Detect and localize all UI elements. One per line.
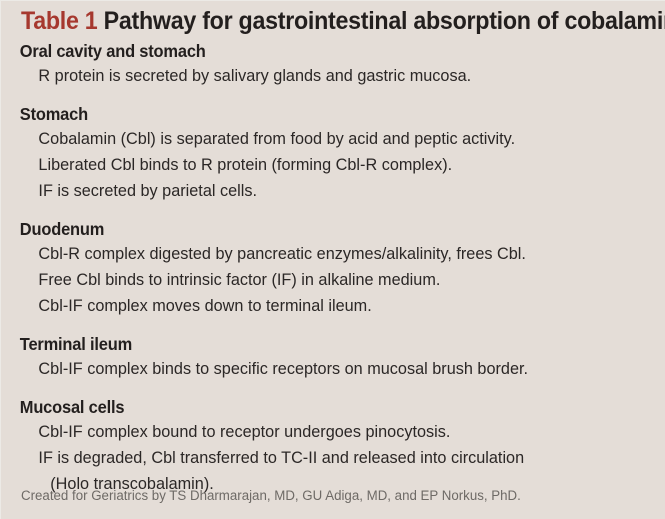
section-heading: Mucosal cells [1, 395, 625, 419]
table-body: Oral cavity and stomachR protein is secr… [1, 39, 665, 497]
section-line: Cbl-IF complex bound to receptor undergo… [1, 419, 655, 445]
section-heading: Terminal ileum [1, 332, 625, 356]
table-title-text: Pathway for gastrointestinal absorption … [104, 7, 665, 35]
section-line: Cbl-R complex digested by pancreatic enz… [1, 241, 655, 267]
section-line: Free Cbl binds to intrinsic factor (IF) … [1, 267, 655, 293]
table-section: Oral cavity and stomachR protein is secr… [1, 39, 665, 89]
table-card: Table 1 Pathway for gastrointestinal abs… [0, 0, 665, 519]
table-label: Table 1 [21, 7, 97, 35]
section-line: Liberated Cbl binds to R protein (formin… [1, 152, 655, 178]
section-line: IF is secreted by parietal cells. [1, 178, 655, 204]
section-line: IF is degraded, Cbl transferred to TC-II… [1, 445, 655, 471]
table-title: Table 1 Pathway for gastrointestinal abs… [21, 6, 611, 36]
table-section: Mucosal cellsCbl-IF complex bound to rec… [1, 395, 665, 497]
section-heading: Stomach [1, 102, 625, 126]
table-credit: Created for Geriatrics by TS Dharmarajan… [21, 487, 521, 505]
table-section: Terminal ileumCbl-IF complex binds to sp… [1, 332, 665, 382]
table-section: DuodenumCbl-R complex digested by pancre… [1, 217, 665, 319]
section-heading: Oral cavity and stomach [1, 39, 625, 63]
section-heading: Duodenum [1, 217, 625, 241]
section-line: Cbl-IF complex moves down to terminal il… [1, 293, 655, 319]
section-line: Cbl-IF complex binds to specific recepto… [1, 356, 655, 382]
section-line: R protein is secreted by salivary glands… [1, 63, 655, 89]
section-line: Cobalamin (Cbl) is separated from food b… [1, 126, 655, 152]
table-section: StomachCobalamin (Cbl) is separated from… [1, 102, 665, 204]
